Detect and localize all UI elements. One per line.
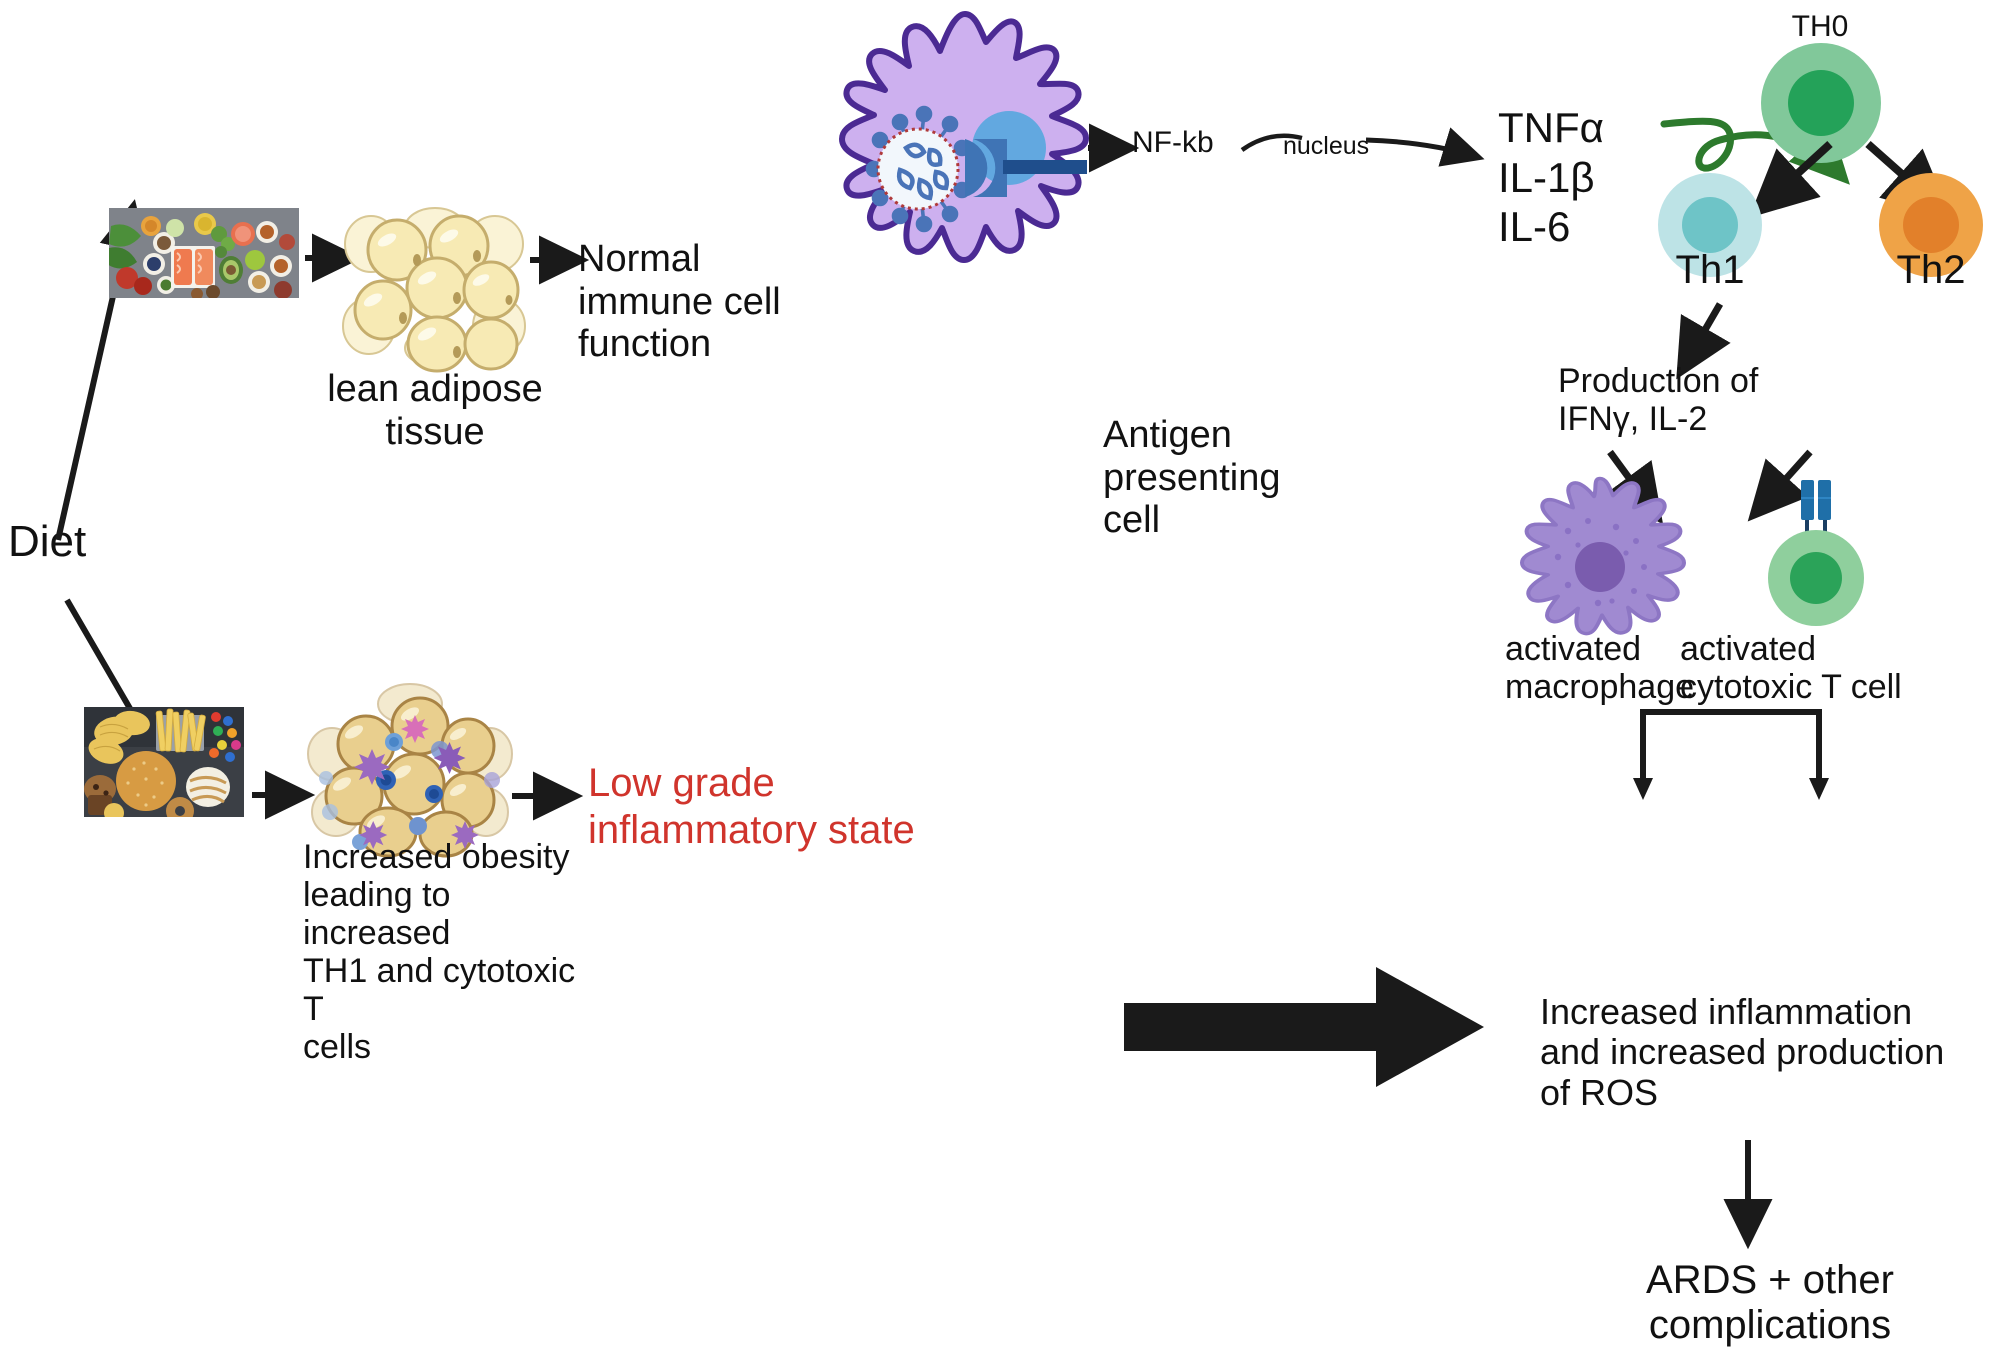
lean-adipose-label: lean adipose tissue: [310, 368, 560, 453]
lean-adipose-tissue-illustration: [345, 214, 525, 360]
th2-label: Th2: [1871, 248, 1991, 293]
activated-cytotoxic-t-cell: [1748, 480, 1884, 630]
normal-immune-function-label: Normal immune cell function: [578, 238, 838, 366]
arrow-inflammation-to-ards: [1730, 1140, 1766, 1256]
obese-adipose-tissue-illustration: [310, 684, 510, 850]
arrow-obese-adipose-to-low-grade: [512, 786, 582, 806]
arrow-low-grade-to-inflammation-thick: [1124, 965, 1486, 1095]
bracket-cells-to-inflammation: [1637, 706, 1837, 802]
th1-label: Th1: [1650, 248, 1770, 293]
increased-inflammation-label: Increased inflammation and increased pro…: [1540, 992, 2000, 1113]
obese-adipose-label: Increased obesity leading to increased T…: [303, 838, 603, 1066]
ace2-receptor: [963, 127, 1088, 209]
ards-label: ARDS + other complications: [1560, 1258, 1980, 1348]
nucleus-label: nucleus: [1283, 132, 1369, 161]
activated-cytotoxic-t-label: activated cytotoxic T cell: [1680, 630, 2000, 706]
arrow-junk-food-to-obese-adipose: [252, 785, 314, 805]
antigen-presenting-cell-caption: Antigen presenting cell: [1103, 414, 1363, 542]
activated-macrophage-cell: [1512, 475, 1688, 635]
nfkb-label: NF-kb: [1132, 126, 1214, 160]
production-label: Production of IFNγ, IL-2: [1558, 362, 1838, 438]
junk-food-photo: [84, 707, 244, 817]
cytokines-list-label: TNFα IL-1β IL-6: [1498, 103, 1678, 252]
arrow-nucleus-to-cytokines: [1366, 126, 1496, 176]
low-grade-inflammatory-label: Low grade inflammatory state: [588, 760, 1008, 854]
healthy-food-photo: [109, 208, 299, 298]
th0-label: TH0: [1750, 10, 1890, 44]
